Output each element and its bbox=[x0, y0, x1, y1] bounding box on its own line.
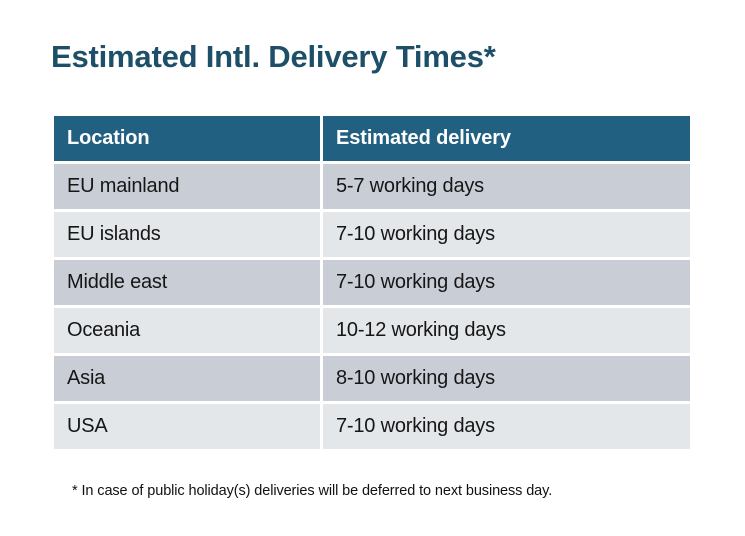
cell-delivery: 8-10 working days bbox=[323, 356, 690, 401]
cell-location: USA bbox=[54, 404, 320, 449]
table-row: Middle east 7-10 working days bbox=[54, 260, 690, 305]
table-body: EU mainland 5-7 working days EU islands … bbox=[54, 164, 690, 449]
cell-delivery: 7-10 working days bbox=[323, 260, 690, 305]
table-row: EU islands 7-10 working days bbox=[54, 212, 690, 257]
cell-location: EU islands bbox=[54, 212, 320, 257]
cell-delivery: 5-7 working days bbox=[323, 164, 690, 209]
table-row: EU mainland 5-7 working days bbox=[54, 164, 690, 209]
page-title: Estimated Intl. Delivery Times* bbox=[51, 38, 496, 76]
column-header-estimated-delivery: Estimated delivery bbox=[323, 116, 690, 161]
delivery-times-table: Location Estimated delivery EU mainland … bbox=[51, 113, 693, 452]
table-row: Asia 8-10 working days bbox=[54, 356, 690, 401]
footnote-text: * In case of public holiday(s) deliverie… bbox=[72, 481, 552, 501]
cell-location: Middle east bbox=[54, 260, 320, 305]
table-header: Location Estimated delivery bbox=[54, 116, 690, 161]
column-header-location: Location bbox=[54, 116, 320, 161]
cell-location: EU mainland bbox=[54, 164, 320, 209]
cell-location: Asia bbox=[54, 356, 320, 401]
delivery-times-page: Estimated Intl. Delivery Times* Location… bbox=[0, 0, 745, 536]
cell-delivery: 7-10 working days bbox=[323, 404, 690, 449]
cell-delivery: 7-10 working days bbox=[323, 212, 690, 257]
table-row: Oceania 10-12 working days bbox=[54, 308, 690, 353]
table-row: USA 7-10 working days bbox=[54, 404, 690, 449]
table-header-row: Location Estimated delivery bbox=[54, 116, 690, 161]
cell-delivery: 10-12 working days bbox=[323, 308, 690, 353]
cell-location: Oceania bbox=[54, 308, 320, 353]
